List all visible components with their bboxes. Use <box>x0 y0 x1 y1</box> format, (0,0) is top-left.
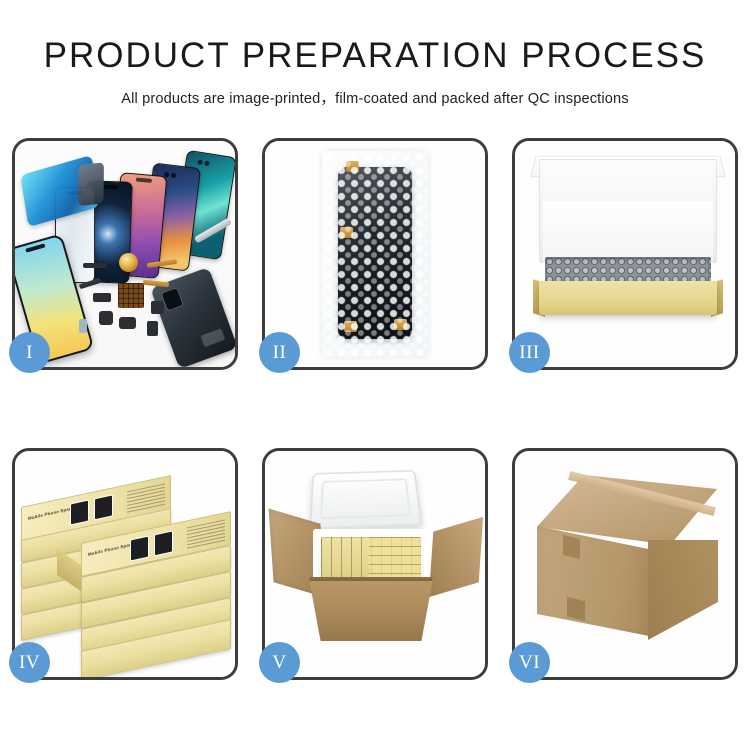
step-panel-3: III <box>512 138 738 370</box>
step-panel-4: Mobile Phone Spare Parts Mobile Phone Sp… <box>12 448 238 680</box>
box-window <box>154 530 173 556</box>
packed-boxes <box>321 537 421 579</box>
box-spec-lines <box>187 519 225 549</box>
chip-grid-part <box>118 283 144 308</box>
shipping-carton <box>301 581 441 641</box>
carton-flap-right <box>429 517 483 597</box>
step-badge-4: IV <box>9 642 50 683</box>
small-part <box>99 311 113 325</box>
foam-lid <box>309 470 423 529</box>
bubble-wrap-bag <box>322 151 428 357</box>
page-header: PRODUCT PREPARATION PROCESS All products… <box>0 0 750 108</box>
step-panel-6: VI <box>512 448 738 680</box>
step-panel-2: II <box>262 138 488 370</box>
step-panel-1: I <box>12 138 238 370</box>
page-subtitle: All products are image-printed，film-coat… <box>0 87 750 108</box>
box-window <box>94 494 113 520</box>
step-badge-2: II <box>259 332 300 373</box>
notch-icon <box>102 185 118 189</box>
step-image-4: Mobile Phone Spare Parts Mobile Phone Sp… <box>15 451 235 677</box>
step-image-5 <box>265 451 485 677</box>
small-part <box>79 319 87 333</box>
box-spec-lines <box>127 483 165 513</box>
carton-front-face <box>537 526 649 636</box>
bubble-wrap-padding <box>545 257 711 283</box>
box-window <box>130 535 149 561</box>
step-image-1 <box>15 141 235 367</box>
small-part <box>119 317 136 329</box>
step-badge-3: III <box>509 332 550 373</box>
small-part <box>151 301 164 314</box>
small-part <box>93 293 111 302</box>
camera-punch-icon <box>197 160 203 166</box>
carton-tab <box>567 597 585 621</box>
carton-side-face <box>648 540 718 640</box>
carton-tab <box>563 535 580 559</box>
step-badge-6: VI <box>509 642 550 683</box>
step-panel-5: V <box>262 448 488 680</box>
foam-sheet <box>543 201 713 263</box>
step-image-6 <box>515 451 735 677</box>
step-image-3 <box>515 141 735 367</box>
small-part <box>147 321 158 336</box>
box-front-panel <box>539 281 717 315</box>
notch-icon <box>135 177 151 182</box>
speaker-part-icon <box>119 253 138 272</box>
bubble-texture <box>322 151 428 357</box>
step-badge-5: V <box>259 642 300 683</box>
small-part <box>83 263 107 268</box>
page-title: PRODUCT PREPARATION PROCESS <box>0 38 750 75</box>
step-image-2 <box>265 141 485 367</box>
box-window <box>70 499 89 525</box>
process-step-grid: I II III <box>12 138 738 680</box>
notch-icon <box>25 243 45 252</box>
step-badge-1: I <box>9 332 50 373</box>
box-stack: Mobile Phone Spare Parts Mobile Phone Sp… <box>21 465 235 661</box>
